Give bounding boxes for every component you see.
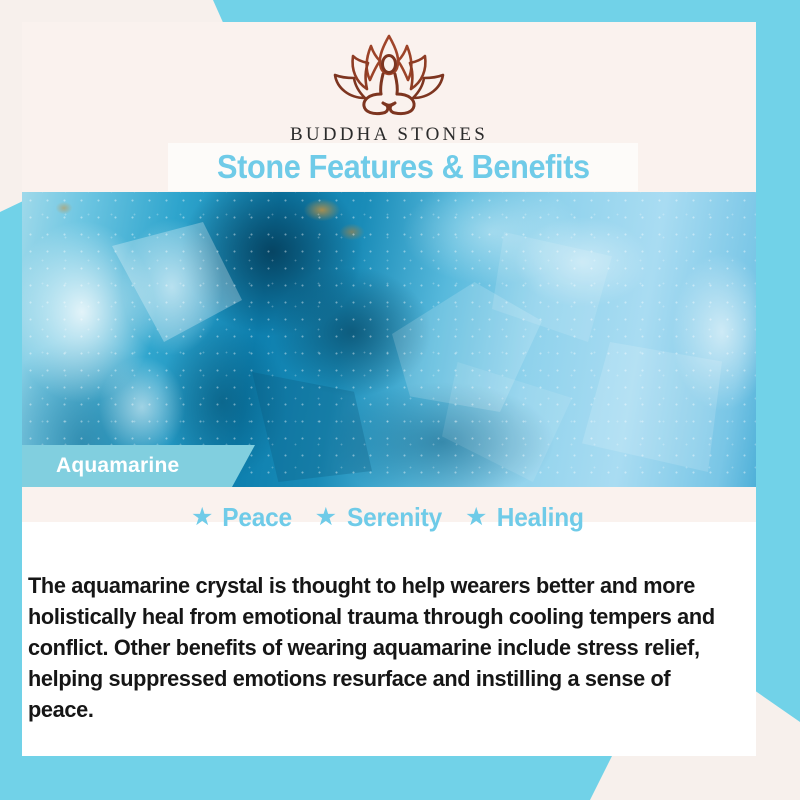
benefit-label: Serenity <box>347 502 442 533</box>
star-icon: ★ <box>465 505 487 530</box>
benefits-row: ★ Peace ★ Serenity ★ Healing <box>22 502 756 533</box>
benefit-item-healing: ★ Healing <box>465 502 587 533</box>
benefit-label: Healing <box>497 502 584 533</box>
description-paragraph: The aquamarine crystal is thought to hel… <box>28 570 725 725</box>
stone-name-ribbon: Aquamarine <box>22 445 255 487</box>
title-banner: Stone Features & Benefits <box>168 143 638 191</box>
hero-sparkle-layer <box>22 192 756 487</box>
star-icon: ★ <box>191 505 213 530</box>
lotus-meditation-figure-icon <box>323 30 455 122</box>
star-icon: ★ <box>315 505 337 530</box>
stone-name-text: Aquamarine <box>22 454 179 478</box>
poster-canvas: BUDDHA STONES Stone Features & Benefits <box>0 0 800 800</box>
hero-crystal-image: Aquamarine <box>22 192 756 487</box>
frame-bottom-band <box>0 754 800 800</box>
brand-logo: BUDDHA STONES <box>290 30 488 146</box>
benefit-label: Peace <box>223 502 293 533</box>
content-card: BUDDHA STONES Stone Features & Benefits <box>22 22 756 756</box>
frame-right-band <box>754 0 800 722</box>
benefit-item-peace: ★ Peace <box>191 502 295 533</box>
page-title: Stone Features & Benefits <box>217 148 590 186</box>
benefit-item-serenity: ★ Serenity <box>315 502 445 533</box>
